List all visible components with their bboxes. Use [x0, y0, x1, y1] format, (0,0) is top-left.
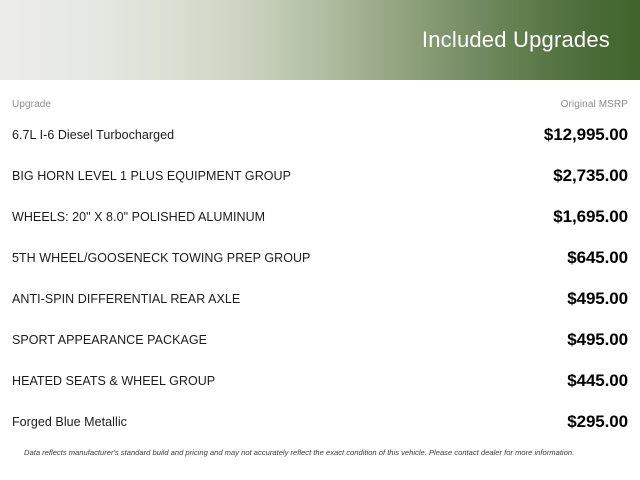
table-row: ANTI-SPIN DIFFERENTIAL REAR AXLE $495.00	[12, 278, 628, 319]
upgrade-price: $12,995.00	[544, 125, 628, 145]
bottom-spacer	[12, 457, 628, 480]
column-header-original-msrp: Original MSRP	[561, 99, 628, 110]
upgrade-price: $445.00	[567, 371, 628, 391]
table-row: SPORT APPEARANCE PACKAGE $495.00	[12, 319, 628, 360]
page-title: Included Upgrades	[422, 29, 610, 51]
upgrade-price: $645.00	[567, 248, 628, 268]
upgrade-price: $495.00	[567, 330, 628, 350]
footer-disclaimer-area: Data reflects manufacturer's standard bu…	[12, 442, 628, 457]
upgrade-name: 5TH WHEEL/GOOSENECK TOWING PREP GROUP	[12, 251, 322, 265]
table-row: BIG HORN LEVEL 1 PLUS EQUIPMENT GROUP $2…	[12, 155, 628, 196]
table-row: 6.7L I-6 Diesel Turbocharged $12,995.00	[12, 114, 628, 155]
table-row: 5TH WHEEL/GOOSENECK TOWING PREP GROUP $6…	[12, 237, 628, 278]
upgrades-table: Upgrade Original MSRP 6.7L I-6 Diesel Tu…	[0, 80, 640, 480]
upgrade-name: HEATED SEATS & WHEEL GROUP	[12, 374, 227, 388]
upgrade-name: 6.7L I-6 Diesel Turbocharged	[12, 128, 186, 142]
table-body: 6.7L I-6 Diesel Turbocharged $12,995.00 …	[12, 114, 628, 442]
upgrade-price: $1,695.00	[553, 207, 628, 227]
upgrade-price: $295.00	[567, 412, 628, 432]
upgrade-name: SPORT APPEARANCE PACKAGE	[12, 333, 219, 347]
table-row: WHEELS: 20" X 8.0" POLISHED ALUMINUM $1,…	[12, 196, 628, 237]
upgrade-name: ANTI-SPIN DIFFERENTIAL REAR AXLE	[12, 292, 252, 306]
header-banner: Included Upgrades	[0, 0, 640, 80]
column-header-upgrade: Upgrade	[12, 99, 51, 110]
table-row: HEATED SEATS & WHEEL GROUP $445.00	[12, 360, 628, 401]
disclaimer-text: Data reflects manufacturer's standard bu…	[24, 448, 616, 457]
table-row: Forged Blue Metallic $295.00	[12, 401, 628, 442]
upgrade-name: BIG HORN LEVEL 1 PLUS EQUIPMENT GROUP	[12, 169, 303, 183]
upgrade-price: $495.00	[567, 289, 628, 309]
upgrade-price: $2,735.00	[553, 166, 628, 186]
included-upgrades-panel: Included Upgrades Upgrade Original MSRP …	[0, 0, 640, 480]
table-header-row: Upgrade Original MSRP	[12, 80, 628, 114]
upgrade-name: WHEELS: 20" X 8.0" POLISHED ALUMINUM	[12, 210, 277, 224]
upgrade-name: Forged Blue Metallic	[12, 415, 139, 429]
